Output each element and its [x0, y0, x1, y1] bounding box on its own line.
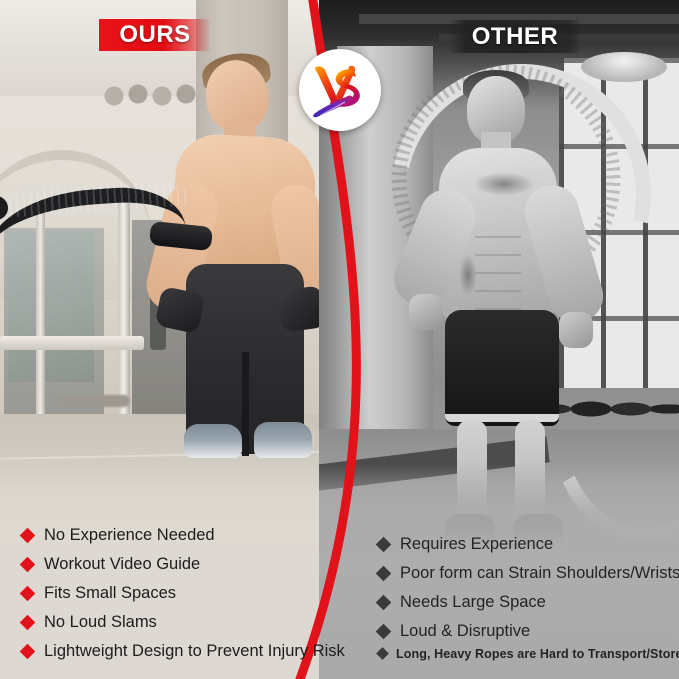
- diamond-bullet-icon: [20, 528, 36, 544]
- list-item: No Experience Needed: [22, 526, 342, 545]
- diamond-bullet-icon: [376, 623, 392, 639]
- diamond-bullet-icon: [20, 557, 36, 573]
- list-item-label: Lightweight Design to Prevent Injury Ris…: [44, 642, 345, 661]
- list-item-label: No Loud Slams: [44, 613, 157, 632]
- other-drawbacks-list: Requires Experience Poor form can Strain…: [378, 535, 674, 661]
- list-item: Workout Video Guide: [22, 555, 342, 574]
- list-item-label: Needs Large Space: [400, 593, 546, 612]
- athlete-left-glove: [154, 286, 205, 334]
- list-item-label: No Experience Needed: [44, 526, 215, 545]
- diamond-bullet-icon: [376, 565, 392, 581]
- list-item: Lightweight Design to Prevent Injury Ris…: [22, 642, 342, 661]
- list-item-label: Workout Video Guide: [44, 555, 200, 574]
- ours-label-badge: OURS: [99, 19, 211, 51]
- ours-benefits-list: No Experience Needed Workout Video Guide…: [22, 526, 342, 661]
- diamond-bullet-icon: [376, 536, 392, 552]
- list-item-label: Fits Small Spaces: [44, 584, 176, 603]
- list-item-label: Poor form can Strain Shoulders/Wrists: [400, 564, 679, 583]
- list-item-label: Loud & Disruptive: [400, 622, 530, 641]
- diamond-bullet-icon: [20, 615, 36, 631]
- list-item-label: Long, Heavy Ropes are Hard to Transport/…: [396, 647, 679, 661]
- diamond-bullet-icon: [20, 586, 36, 602]
- list-item: Needs Large Space: [378, 593, 674, 612]
- list-item: Long, Heavy Ropes are Hard to Transport/…: [378, 647, 674, 661]
- list-item: Loud & Disruptive: [378, 622, 674, 641]
- other-athlete-left-hand: [409, 294, 443, 330]
- list-item: Poor form can Strain Shoulders/Wrists: [378, 564, 674, 583]
- other-athlete-shorts: [445, 310, 559, 426]
- athlete-leg-split: [242, 352, 249, 456]
- gym-crossbar: [0, 336, 144, 350]
- vs-logo-icon: [304, 54, 376, 126]
- athlete-right-shoe: [254, 422, 312, 458]
- list-item: No Loud Slams: [22, 613, 342, 632]
- other-athlete-abs: [475, 236, 521, 312]
- athlete-left-shoe: [184, 424, 242, 458]
- list-item: Requires Experience: [378, 535, 674, 554]
- diamond-bullet-icon: [20, 644, 36, 660]
- other-label-text: OTHER: [472, 23, 559, 51]
- ours-label-text: OURS: [119, 21, 190, 49]
- comparison-poster: OURS OTHER: [0, 0, 679, 679]
- diamond-bullet-icon: [376, 647, 389, 660]
- vs-badge: [299, 49, 381, 131]
- list-item: Fits Small Spaces: [22, 584, 342, 603]
- list-item-label: Requires Experience: [400, 535, 553, 554]
- other-label-badge: OTHER: [450, 20, 580, 53]
- diamond-bullet-icon: [376, 594, 392, 610]
- gym-machine-base: [60, 395, 130, 407]
- chest-tattoo: [473, 172, 535, 196]
